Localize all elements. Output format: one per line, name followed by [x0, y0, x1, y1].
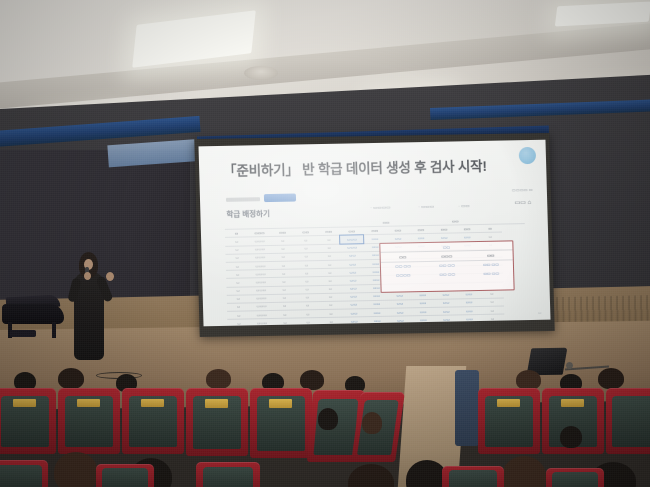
table-group-header: [501, 216, 524, 224]
auditorium-seat[interactable]: [196, 462, 260, 487]
slide-title: 「준비하기」 반 학급 데이터 생성 후 검사 시작!: [223, 155, 487, 180]
projected-slide: 「준비하기」 반 학급 데이터 생성 후 검사 시작! 학급 배정하기 · ▭▭…: [199, 140, 551, 327]
audience-head: [598, 368, 624, 389]
seat-number-plate: [13, 399, 37, 408]
microphone-stand: [565, 362, 609, 365]
piano-leg: [52, 322, 56, 338]
app-breadcrumb-tag: [226, 197, 260, 202]
lecture-hall-photo: 「준비하기」 반 학급 데이터 생성 후 검사 시작! 학급 배정하기 · ▭▭…: [0, 0, 650, 487]
audience-seating-area: [0, 368, 650, 487]
seat-number-plate: [497, 399, 521, 408]
seat-backrest: [0, 465, 42, 487]
auditorium-seat[interactable]: [0, 460, 48, 487]
highlighted-detail-panel: ▭▭ ▭▭ ▭▭▭ ▭▭ ▭▭ ▭▭▭▭ ▭▭▭▭ ▭▭ ▭▭▭▭▭▭ ▭▭▭▭…: [379, 240, 514, 293]
auditorium-seat[interactable]: [186, 388, 248, 456]
seat-number-plate: [141, 399, 165, 408]
seat-number-plate: [205, 399, 229, 408]
piano-bench: [10, 330, 36, 337]
audience-head: [54, 452, 98, 487]
presenter-speaker: [62, 252, 120, 362]
auditorium-seat[interactable]: [96, 464, 154, 487]
seat-backrest: [203, 467, 253, 487]
auditorium-seat[interactable]: [58, 388, 120, 454]
seat-number-plate: [77, 399, 101, 408]
auditorium-seat[interactable]: [442, 466, 504, 487]
seat-backrest: [449, 470, 497, 487]
presenter-mic-hand: [84, 272, 91, 280]
auditorium-seat[interactable]: [250, 388, 312, 458]
auditorium-seat[interactable]: [478, 388, 540, 454]
seat-number-plate: [561, 399, 585, 408]
piano-body: [2, 304, 64, 324]
auditorium-seat[interactable]: [546, 468, 604, 487]
auditorium-seat[interactable]: [122, 388, 184, 454]
app-section-heading: 학급 배정하기: [226, 208, 270, 220]
audience-head: [58, 368, 84, 389]
app-toolbar-item[interactable]: · ▭▭▭▭: [370, 205, 390, 211]
audience-head: [300, 370, 324, 390]
grand-piano: [2, 296, 68, 340]
seat-backrest: [552, 472, 597, 487]
audience-head: [560, 426, 582, 448]
ceiling-speaker-icon: [244, 66, 278, 80]
app-primary-button[interactable]: [264, 194, 296, 203]
seat-backrest: [612, 396, 650, 447]
audience-head: [348, 464, 394, 487]
highlight-table: ▭▭ ▭▭ ▭▭▭ ▭▭ ▭▭ ▭▭▭▭ ▭▭▭▭ ▭▭ ▭▭▭▭▭▭ ▭▭▭▭…: [380, 241, 513, 279]
audience-head: [362, 412, 382, 434]
app-toolbar-item[interactable]: · ▭▭▭: [418, 204, 434, 210]
seat-number-plate: [269, 399, 293, 408]
seat-backrest: [102, 468, 147, 487]
app-toolbar-item[interactable]: · ▭▭: [458, 203, 470, 209]
slide-decoration-circle-icon: [519, 147, 536, 164]
audience-head: [516, 370, 541, 390]
presenter-raised-hand: [106, 272, 114, 281]
auditorium-seat[interactable]: [606, 388, 650, 454]
app-user-badge[interactable]: ▭▭ ⌂: [514, 199, 531, 206]
app-meta-text: ▭▭▭▭ ▭: [512, 187, 533, 192]
slide-page-number: ▭: [538, 311, 541, 315]
audience-head: [206, 369, 231, 389]
highlight-row[interactable]: ▭▭▭▭▭▭ ▭▭▭▭ ▭▭: [381, 268, 513, 279]
auditorium-seat[interactable]: [0, 388, 56, 454]
audience-head: [502, 456, 546, 487]
audience-head: [318, 408, 338, 430]
